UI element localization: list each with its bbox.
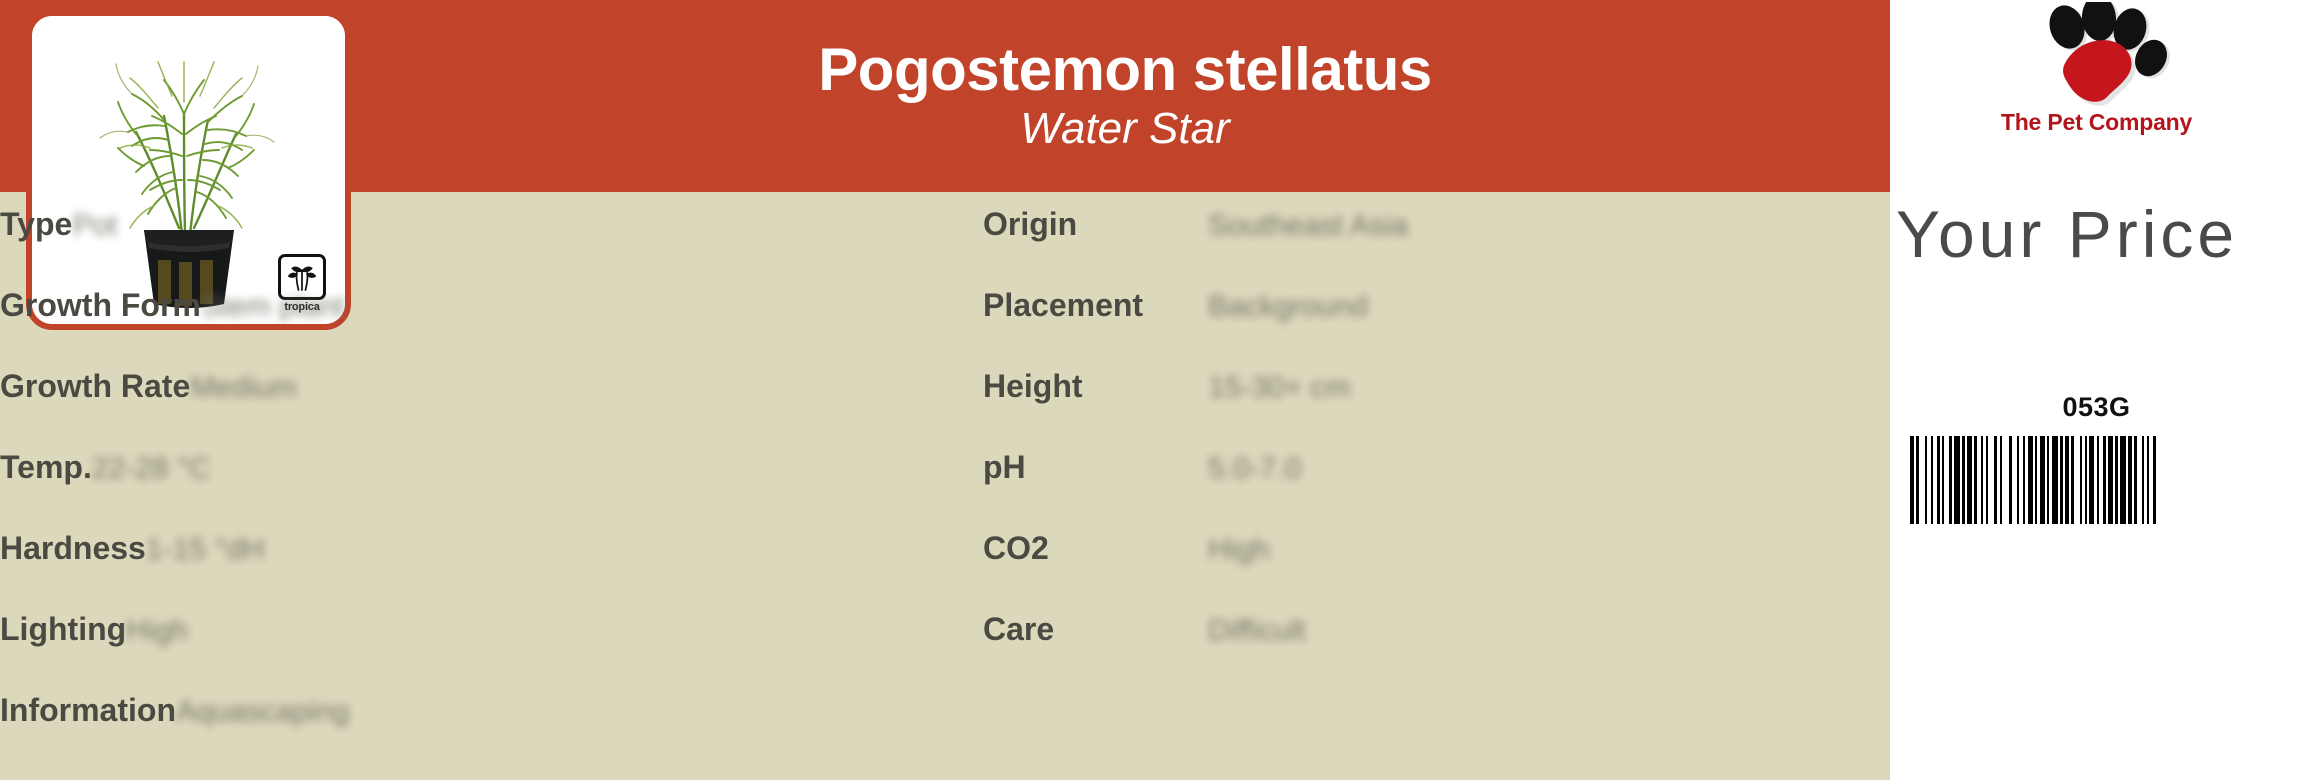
- spec-label: Lighting: [0, 611, 126, 648]
- spec-label: Care: [945, 611, 1208, 648]
- barcode-icon: [1910, 436, 2285, 524]
- spec-row: Growth Form Stem plant: [0, 287, 945, 368]
- spec-value: Southeast Asia: [1208, 209, 1408, 243]
- spec-column-left: Type Pot Growth Form Stem plant Growth R…: [0, 192, 945, 780]
- spec-label: Height: [945, 368, 1208, 405]
- spec-value: High: [126, 614, 188, 648]
- spec-row: Type Pot: [0, 206, 945, 287]
- price-panel: The Pet Company Your Price 053G: [1890, 0, 2303, 780]
- brand-block: The Pet Company: [1890, 2, 2303, 152]
- spec-row: Placement Background: [945, 287, 1890, 368]
- spec-value: Background: [1208, 290, 1368, 324]
- spec-row: pH 5.0-7.0: [945, 449, 1890, 530]
- spec-row: Temp. 22-28 °C: [0, 449, 945, 530]
- spec-label: Growth Rate: [0, 368, 190, 405]
- spec-label: Information: [0, 692, 176, 729]
- spec-label: Origin: [945, 206, 1208, 243]
- spec-value: 5.0-7.0: [1208, 452, 1301, 486]
- spec-label: Placement: [945, 287, 1208, 324]
- paw-print-icon: [1997, 2, 2197, 107]
- spec-label: CO2: [945, 530, 1208, 567]
- scientific-name: Pogostemon stellatus: [818, 38, 1431, 101]
- spec-row: Origin Southeast Asia: [945, 206, 1890, 287]
- spec-row: CO2 High: [945, 530, 1890, 611]
- main-panel: Pogostemon stellatus Water Star: [0, 0, 1890, 780]
- spec-value: Pot: [72, 209, 117, 243]
- sku-code: 053G: [1890, 392, 2303, 423]
- spec-label: Type: [0, 206, 72, 243]
- spec-label: Temp.: [0, 449, 92, 486]
- spec-value: Difficult: [1208, 614, 1306, 648]
- spec-value: Stem plant: [201, 290, 344, 324]
- spec-label: Growth Form: [0, 287, 201, 324]
- spec-label: pH: [945, 449, 1208, 486]
- spec-row: Height 15-30+ cm: [945, 368, 1890, 449]
- spec-row: Information Aquascaping: [0, 692, 945, 773]
- brand-name: The Pet Company: [2001, 109, 2192, 136]
- spec-row: Hardness 1-15 °dH: [0, 530, 945, 611]
- spec-row: Lighting High: [0, 611, 945, 692]
- plant-price-label: Pogostemon stellatus Water Star: [0, 0, 2303, 780]
- spec-label: Hardness: [0, 530, 146, 567]
- spec-value: High: [1208, 533, 1270, 567]
- spec-row: Growth Rate Medium: [0, 368, 945, 449]
- price-heading: Your Price: [1896, 196, 2303, 286]
- spec-value: Aquascaping: [176, 695, 349, 729]
- spec-column-right: Origin Southeast Asia Placement Backgrou…: [945, 192, 1890, 780]
- spec-value: 22-28 °C: [92, 452, 211, 486]
- spec-value: Medium: [190, 371, 297, 405]
- spec-row: Care Difficult: [945, 611, 1890, 692]
- common-name: Water Star: [1020, 105, 1229, 153]
- spec-table: Type Pot Growth Form Stem plant Growth R…: [0, 192, 1890, 780]
- spec-value: 1-15 °dH: [146, 533, 265, 567]
- header-title-block: Pogostemon stellatus Water Star: [360, 0, 1890, 192]
- spec-value: 15-30+ cm: [1208, 371, 1351, 405]
